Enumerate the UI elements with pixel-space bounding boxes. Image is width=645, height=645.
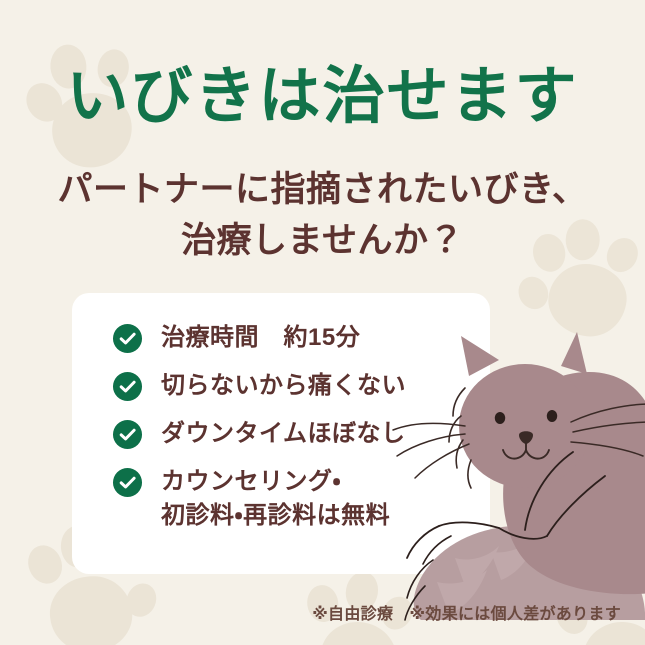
page-subtitle: パートナーに指摘されたいびき、 治療しませんか？ xyxy=(0,165,645,267)
list-item: カウンセリング・ 初診料・再診料は無料 xyxy=(112,465,480,533)
paw-toe xyxy=(513,272,553,314)
poster-canvas: いびきは治せます パートナーに指摘されたいびき、 治療しませんか？ 治療時間 約… xyxy=(0,0,645,645)
check-circle-icon xyxy=(112,371,143,402)
paw-pad xyxy=(46,572,135,645)
list-item: 治療時間 約15分 xyxy=(112,321,480,355)
list-item-line-1: ダウンタイムほぼなし xyxy=(161,420,406,447)
check-circle-icon xyxy=(112,467,143,498)
list-item-line-2: 初診料・再診料は無料 xyxy=(161,499,390,533)
feature-card: 治療時間 約15分 切らないから痛くない xyxy=(72,293,490,574)
check-circle-icon xyxy=(112,323,143,354)
page-title: いびきは治せます xyxy=(0,64,645,129)
check-circle-icon xyxy=(112,419,143,450)
feature-checklist: 治療時間 約15分 切らないから痛くない xyxy=(112,321,480,533)
page-subtitle-line-2: 治療しませんか？ xyxy=(0,216,645,267)
list-item-line-1: 治療時間 約15分 xyxy=(161,324,360,351)
list-item-text: 切らないから痛くない xyxy=(161,369,406,403)
list-item-line-1: 切らないから痛くない xyxy=(161,372,406,399)
list-item: ダウンタイムほぼなし xyxy=(112,417,480,451)
list-item: 切らないから痛くない xyxy=(112,369,480,403)
paw-pad xyxy=(545,260,630,340)
list-item-text: カウンセリング・ 初診料・再診料は無料 xyxy=(161,465,390,533)
list-item-text: 治療時間 約15分 xyxy=(161,321,360,355)
paw-toe xyxy=(22,540,67,589)
list-item-line-1: カウンセリング・ xyxy=(161,468,341,495)
list-item-text: ダウンタイムほぼなし xyxy=(161,417,406,451)
page-subtitle-line-1: パートナーに指摘されたいびき、 xyxy=(0,165,645,216)
footnote-text: ※自由診療 ※効果には個人差があります xyxy=(312,600,621,624)
paw-toe xyxy=(122,579,162,621)
